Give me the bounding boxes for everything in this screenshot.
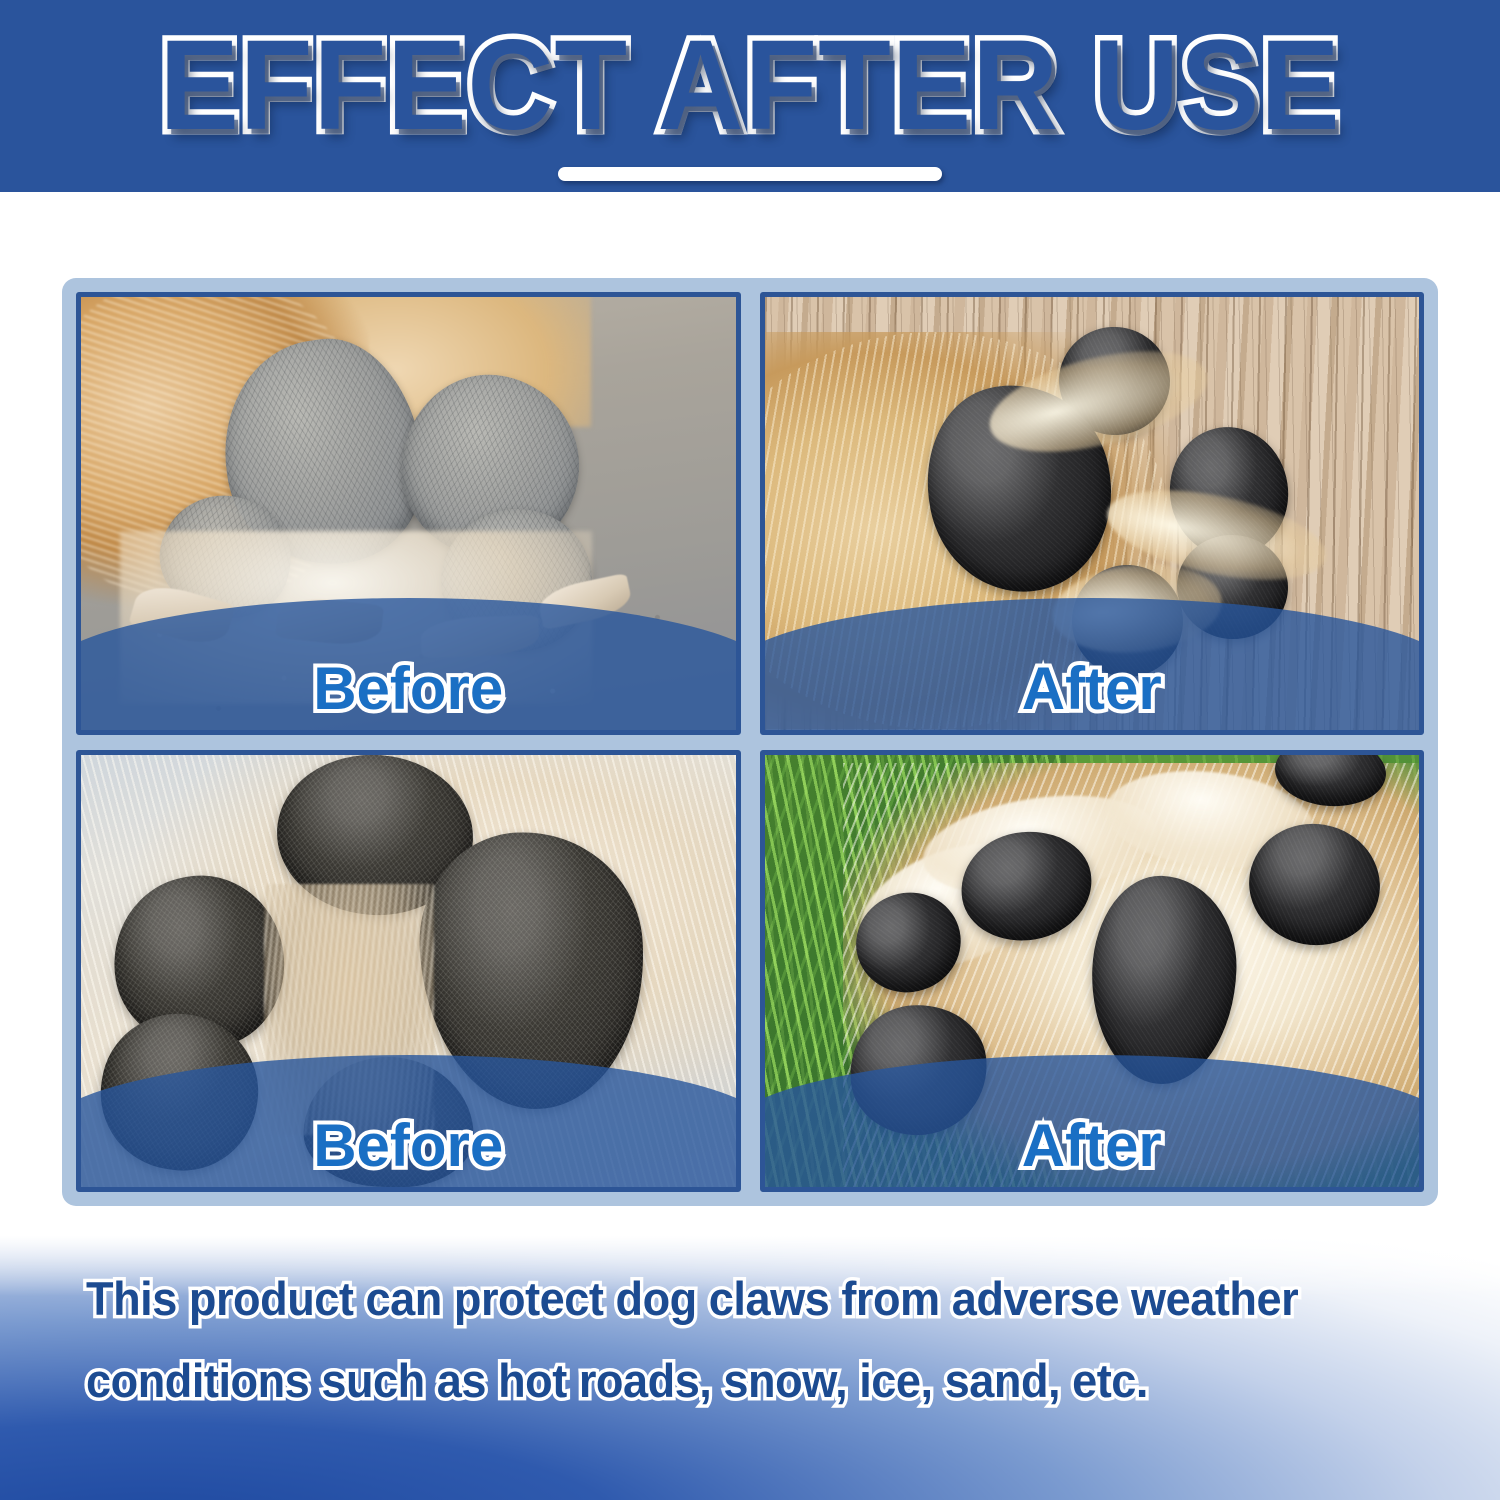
photo-label-before: Before [81, 656, 736, 722]
page-title: EFFECT AFTER USE [53, 16, 1448, 156]
photo-card-after-bottom-right: After [760, 750, 1425, 1193]
product-description: This product can protect dog claws from … [86, 1258, 1372, 1422]
photo-label-after: After [765, 656, 1420, 722]
photo-label-after: After [765, 1113, 1420, 1179]
photo-card-after-top-right: After [760, 292, 1425, 735]
photo-label-before: Before [81, 1113, 736, 1179]
photo-card-before-bottom-left: Before [76, 750, 741, 1193]
product-infographic: EFFECT AFTER USE Before [0, 0, 1500, 1500]
footer-gradient-band: This product can protect dog claws from … [0, 1236, 1500, 1500]
photo-card-before-top-left: Before [76, 292, 741, 735]
description-line-1: This product can protect dog claws from … [86, 1258, 1372, 1340]
before-after-photo-grid: Before After [62, 278, 1438, 1206]
description-line-2: conditions such as hot roads, snow, ice,… [86, 1340, 1372, 1422]
title-underline-rule [558, 167, 942, 181]
header-banner: EFFECT AFTER USE [0, 0, 1500, 192]
